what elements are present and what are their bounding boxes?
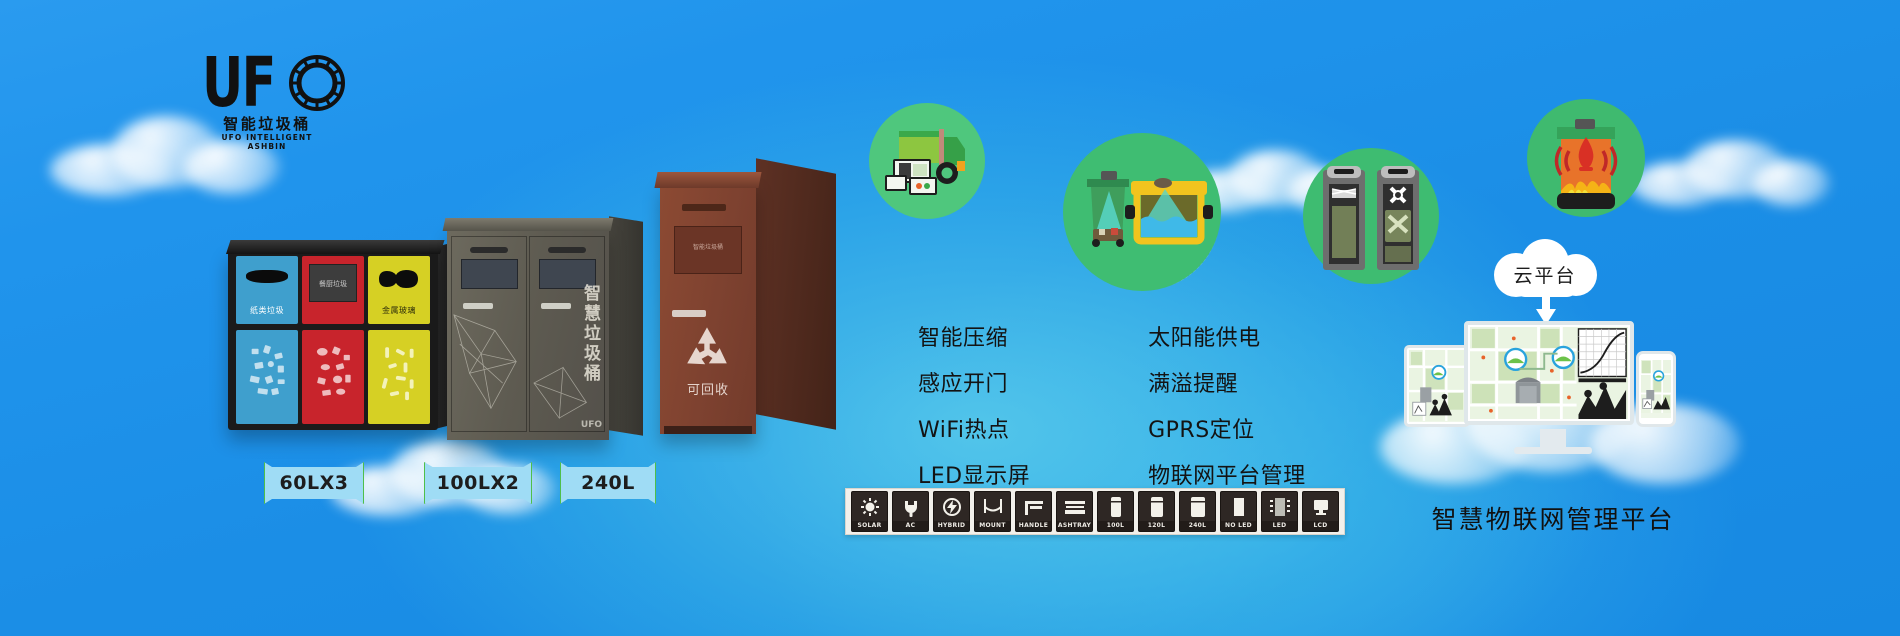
bin3-front-face: 智能垃圾桶 可回收 xyxy=(660,182,756,434)
spec-label: SOLAR xyxy=(852,521,887,531)
bin1-metalglass-graphic xyxy=(376,338,422,407)
bin3-label: 可回收 xyxy=(660,379,756,398)
spec-icon-handle: HANDLE xyxy=(1015,491,1052,532)
spec-label: MOUNT xyxy=(975,521,1010,531)
logo-wordmark: UF xyxy=(202,52,332,114)
phone-map-screen xyxy=(1641,360,1671,418)
spec-label: HANDLE xyxy=(1016,521,1051,531)
product-bin-twin-smart: 智慧垃圾桶 UFO xyxy=(447,228,643,440)
bin3-display: 智能垃圾桶 xyxy=(674,226,742,274)
bin1-slot-paper xyxy=(246,270,288,283)
feature-label: 满溢提醒 xyxy=(1148,366,1238,398)
bin3-vent xyxy=(682,204,726,211)
size-banner-240l: 240L xyxy=(560,462,656,504)
bin1-kitchen-graphic xyxy=(310,338,356,407)
spec-icon-lcd: LCD xyxy=(1302,491,1339,532)
garbage-truck-icon xyxy=(869,103,985,219)
power-plug-icon xyxy=(893,492,928,521)
feature-list: 智能压缩 感应开门 WiFi热点 LED显示屏 太阳能供电 满溢提醒 xyxy=(880,320,1306,490)
fire-alarm-bin-icon xyxy=(1527,99,1645,217)
bin3-recycle-icon xyxy=(680,322,734,376)
feature-circle-smart-collection-fleet xyxy=(869,103,985,219)
spec-icon-solar: SOLAR xyxy=(851,491,888,532)
feature-label: GPRS定位 xyxy=(1148,412,1255,444)
monitor-bullet-icon xyxy=(880,328,902,345)
monitor-neck xyxy=(1540,429,1566,447)
spec-label: 120L xyxy=(1139,521,1174,531)
monitor-bullet-icon xyxy=(880,466,902,483)
bin1-screen-kitchen: 餐厨垃圾 xyxy=(309,264,357,302)
spec-icon-ac: AC xyxy=(892,491,929,532)
monitor-bullet-icon xyxy=(1110,466,1132,483)
bin2-door-left xyxy=(451,236,527,432)
feature-label: 智能压缩 xyxy=(918,320,1008,352)
feature-item: LED显示屏 xyxy=(880,458,1030,490)
bin1-compartment-paper: 纸类垃圾 xyxy=(236,256,298,424)
bin3-side-panel xyxy=(756,158,836,430)
bin1-compartment-kitchen: 餐厨垃圾 xyxy=(302,256,364,424)
tablet-dashboard-icon xyxy=(1409,350,1465,421)
bin1-label-metal-glass: 金属玻璃 xyxy=(368,305,430,316)
bin2-line-art-left xyxy=(452,237,526,428)
monitor-bullet-icon xyxy=(1110,420,1132,437)
bin1-label-paper: 纸类垃圾 xyxy=(236,305,298,316)
bin-ultrasonic-sensor-icon xyxy=(1063,133,1221,291)
platform-title: 智慧物联网管理平台 xyxy=(1398,500,1708,536)
feature-label: LED显示屏 xyxy=(918,458,1030,490)
spec-icon-no-led: NO LED xyxy=(1220,491,1257,532)
monitor-base xyxy=(1514,447,1592,454)
bin-120l-icon xyxy=(1139,492,1174,521)
cloud-platform-bubble: 云平台 xyxy=(1484,239,1606,301)
spec-icon-100l: 100L xyxy=(1097,491,1134,532)
monitor-dashboard-icon xyxy=(1470,327,1628,419)
bin2-vertical-text: 智慧垃圾桶 xyxy=(578,284,603,384)
size-label-1: 100LX2 xyxy=(437,472,520,494)
spec-label: NO LED xyxy=(1221,521,1256,531)
spec-label: AC xyxy=(893,521,928,531)
panel-plain-icon xyxy=(1221,492,1256,521)
bin1-top-slab xyxy=(226,240,445,254)
ashtray-icon xyxy=(1057,492,1092,521)
banner-canvas: UF 智能垃圾桶 UFO INTELLIGENT ASHBIN xyxy=(0,0,1900,636)
feature-label: 太阳能供电 xyxy=(1148,320,1261,352)
brand-logo: UF 智能垃圾桶 UFO INTELLIGENT ASHBIN xyxy=(202,52,332,151)
spec-label: LCD xyxy=(1303,521,1338,531)
spec-icon-ashtray: ASHTRAY xyxy=(1056,491,1093,532)
spec-icon-led: LED xyxy=(1261,491,1298,532)
size-label-0: 60LX3 xyxy=(280,472,349,494)
device-tablet xyxy=(1404,345,1470,427)
feature-column-left: 智能压缩 感应开门 WiFi热点 LED显示屏 xyxy=(880,320,1030,490)
logo-ring-o-icon xyxy=(289,55,345,111)
tablet-map-screen xyxy=(1409,350,1465,422)
handle-icon xyxy=(1016,492,1051,521)
bin-100l-icon xyxy=(1098,492,1133,521)
monitor-bullet-icon xyxy=(880,420,902,437)
led-panel-icon xyxy=(1262,492,1297,521)
phone-dashboard-icon xyxy=(1641,360,1671,413)
feature-circle-fill-level-sensing xyxy=(1063,133,1221,291)
lcd-screen-icon xyxy=(1303,492,1338,521)
feature-column-right: 太阳能供电 满溢提醒 GPRS定位 物联网平台管理 xyxy=(1110,320,1306,490)
product-bin-3-compartment: 纸类垃圾 xyxy=(228,250,438,430)
monitor-bullet-icon xyxy=(880,374,902,391)
spec-icon-120l: 120L xyxy=(1138,491,1175,532)
feature-item: 物联网平台管理 xyxy=(1110,458,1306,490)
logo-english-name: UFO INTELLIGENT ASHBIN xyxy=(202,133,332,151)
feature-item: 感应开门 xyxy=(880,366,1030,398)
sun-icon xyxy=(852,492,887,521)
bin2-brand-mark: UFO xyxy=(581,420,602,430)
cloud-platform-label: 云平台 xyxy=(1484,239,1606,301)
size-banner-100lx2: 100LX2 xyxy=(424,462,532,504)
bin3-display-text-cn: 智能垃圾桶 xyxy=(675,243,741,252)
iot-platform-illustration: 云平台 xyxy=(1398,235,1708,485)
bin3-cap xyxy=(654,172,761,188)
bin3-handle xyxy=(672,310,706,317)
bin1-compartment-metal-glass: 金属玻璃 xyxy=(368,256,430,424)
monitor-bullet-icon xyxy=(1110,328,1132,345)
device-desktop-monitor xyxy=(1464,321,1634,425)
logo-letters: UF xyxy=(202,51,275,115)
feature-label: WiFi热点 xyxy=(918,412,1010,444)
device-smartphone xyxy=(1636,351,1676,427)
bin2-cap xyxy=(443,218,614,231)
monitor-dashboard-screen xyxy=(1470,327,1628,419)
lightning-circle-icon xyxy=(934,492,969,521)
feature-label: 物联网平台管理 xyxy=(1148,458,1306,490)
spec-icon-strip: SOLAR AC HYBRID xyxy=(845,488,1345,535)
cloud-decor-4 xyxy=(1630,140,1830,210)
bin1-paper-graphic xyxy=(244,338,290,407)
bin-240l-icon xyxy=(1180,492,1215,521)
feature-item: 太阳能供电 xyxy=(1110,320,1306,352)
spec-label: 100L xyxy=(1098,521,1133,531)
monitor-bullet-icon xyxy=(1110,374,1132,391)
feature-item: 满溢提醒 xyxy=(1110,366,1306,398)
spec-icon-hybrid: HYBRID xyxy=(933,491,970,532)
spec-label: ASHTRAY xyxy=(1057,521,1092,531)
feature-item: WiFi热点 xyxy=(880,412,1030,444)
bin2-side-panel xyxy=(609,216,643,435)
spec-icon-240l: 240L xyxy=(1179,491,1216,532)
bin2-body: 智慧垃圾桶 UFO xyxy=(447,228,609,440)
feature-item: 智能压缩 xyxy=(880,320,1030,352)
size-label-2: 240L xyxy=(581,472,635,494)
size-banner-60lx3: 60LX3 xyxy=(264,462,364,504)
feature-label: 感应开门 xyxy=(918,366,1008,398)
feature-circle-fire-smoke-alarm xyxy=(1527,99,1645,217)
bin3-feet xyxy=(664,426,752,434)
wall-mount-icon xyxy=(975,492,1010,521)
bin1-slot-metal-glass xyxy=(376,268,422,290)
spec-label: 240L xyxy=(1180,521,1215,531)
spec-label: HYBRID xyxy=(934,521,969,531)
feature-item: GPRS定位 xyxy=(1110,412,1306,444)
spec-label: LED xyxy=(1262,521,1297,531)
product-bin-recyclable: 智能垃圾桶 可回收 xyxy=(660,168,838,434)
spec-icon-mount: MOUNT xyxy=(974,491,1011,532)
